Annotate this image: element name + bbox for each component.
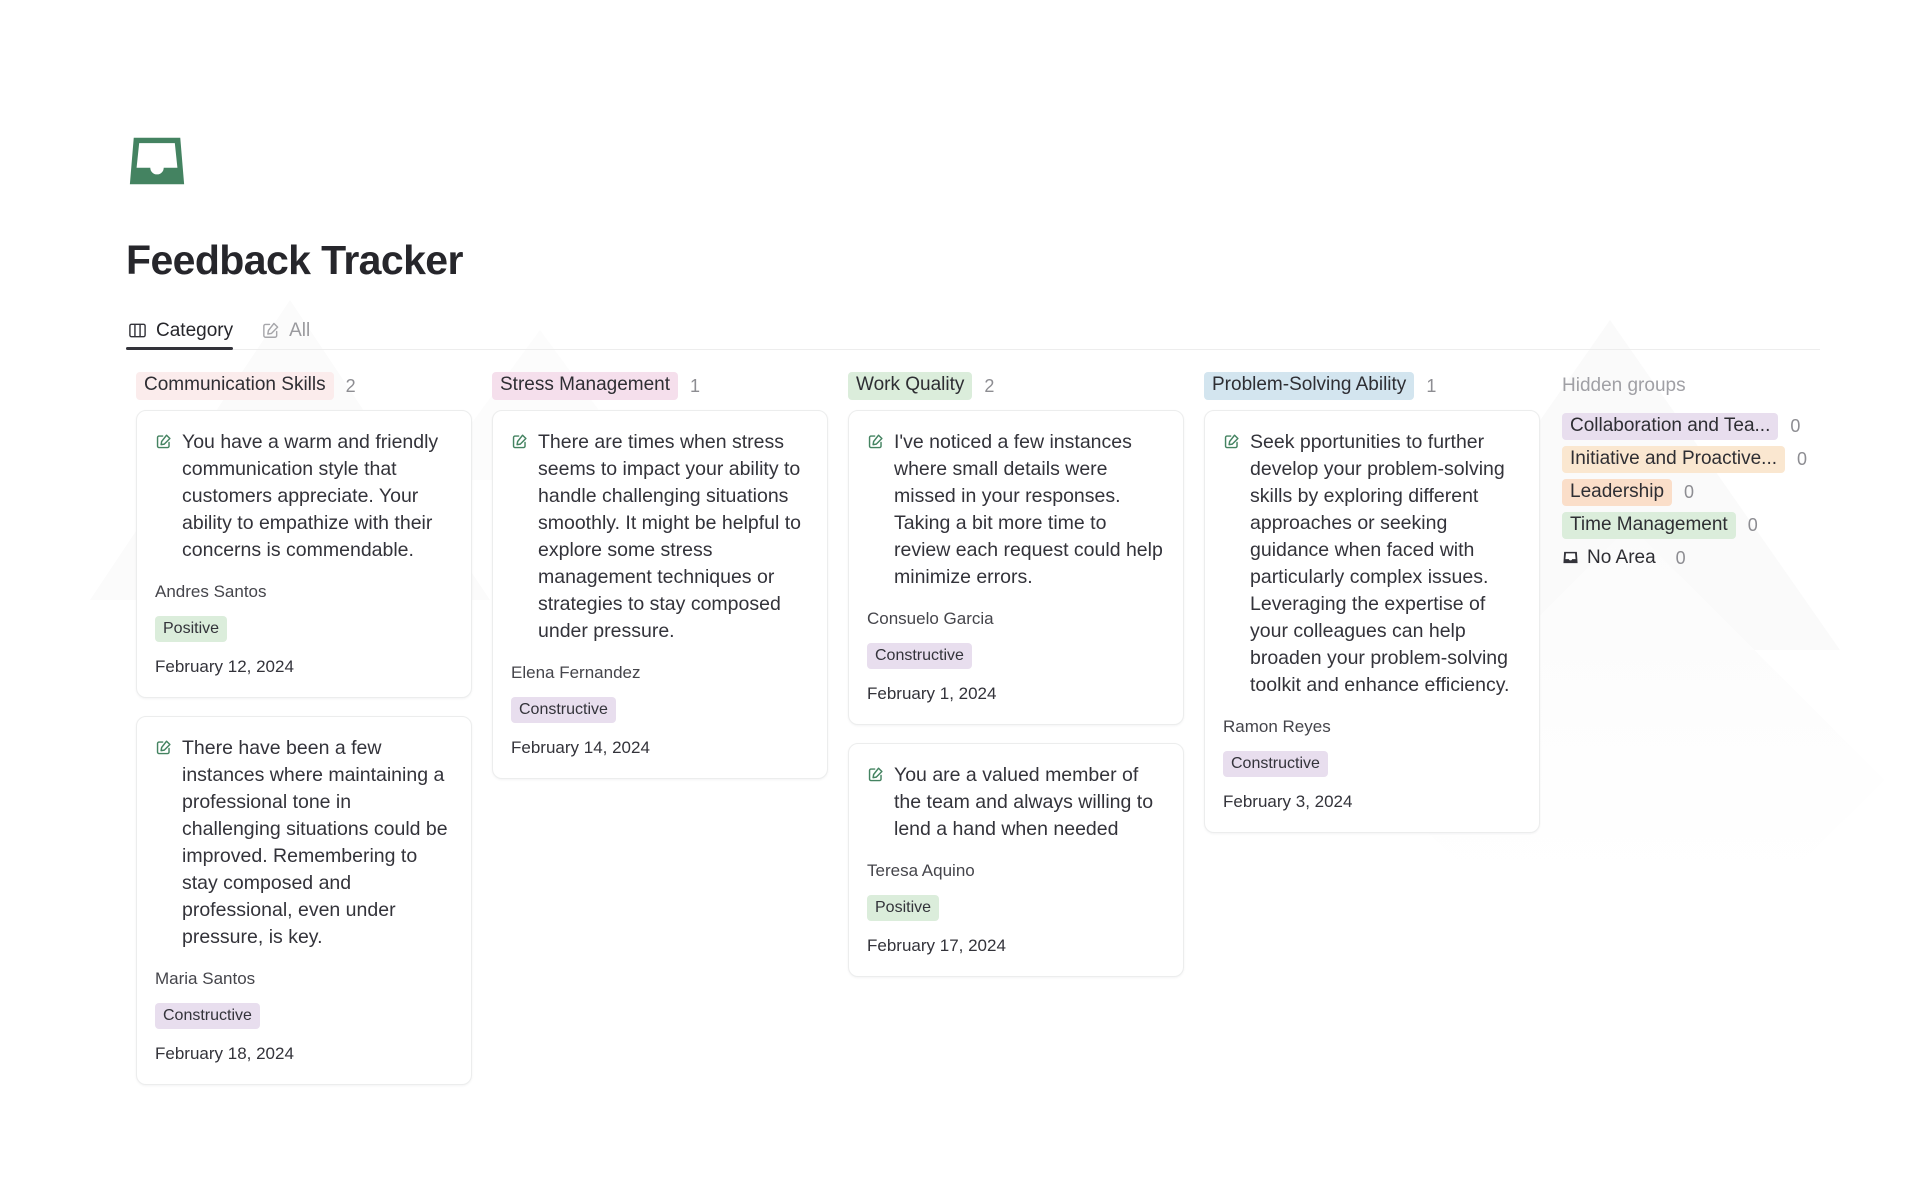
hidden-group-item[interactable]: Leadership 0 bbox=[1562, 476, 1807, 509]
card-tag: Constructive bbox=[1223, 751, 1328, 777]
hidden-group-count: 0 bbox=[1748, 515, 1758, 536]
hidden-group-chip: Leadership bbox=[1562, 479, 1672, 507]
card-date: February 1, 2024 bbox=[867, 684, 1163, 704]
card-author: Andres Santos bbox=[155, 582, 451, 602]
card-body: I've noticed a few instances where small… bbox=[867, 429, 1163, 591]
tab-category-label: Category bbox=[156, 321, 233, 340]
edit-note-icon bbox=[155, 739, 172, 756]
edit-note-icon bbox=[155, 433, 172, 450]
edit-note-icon bbox=[261, 321, 280, 340]
hidden-group-count: 0 bbox=[1676, 548, 1686, 569]
hidden-group-chip: Collaboration and Tea... bbox=[1562, 413, 1778, 441]
feedback-card[interactable]: I've noticed a few instances where small… bbox=[848, 410, 1184, 725]
card-author: Ramon Reyes bbox=[1223, 717, 1519, 737]
card-text: There have been a few instances where ma… bbox=[182, 735, 451, 951]
card-author: Teresa Aquino bbox=[867, 861, 1163, 881]
hidden-group-count: 0 bbox=[1797, 449, 1807, 470]
card-body: Seek pportunities to further develop you… bbox=[1223, 429, 1519, 699]
column-count: 2 bbox=[346, 376, 356, 397]
card-text: You are a valued member of the team and … bbox=[894, 762, 1163, 843]
hidden-groups-title: Hidden groups bbox=[1562, 372, 1807, 400]
hidden-group-label-no-area: No Area bbox=[1587, 547, 1656, 570]
inbox-tray-icon bbox=[126, 130, 188, 192]
card-date: February 14, 2024 bbox=[511, 738, 807, 758]
tab-all-label: All bbox=[289, 321, 310, 340]
card-body: You have a warm and friendly communicati… bbox=[155, 429, 451, 564]
hidden-groups-panel: Hidden groups Collaboration and Tea... 0… bbox=[1550, 372, 1807, 575]
hidden-group-chip-no-area: No Area bbox=[1562, 545, 1664, 573]
card-tag: Constructive bbox=[511, 697, 616, 723]
page-root: Feedback Tracker Category All bbox=[0, 0, 1920, 1103]
card-body: There have been a few instances where ma… bbox=[155, 735, 451, 951]
hidden-group-item[interactable]: Collaboration and Tea... 0 bbox=[1562, 410, 1807, 443]
card-date: February 3, 2024 bbox=[1223, 792, 1519, 812]
inbox-tray-icon bbox=[1562, 549, 1579, 566]
tab-category[interactable]: Category bbox=[126, 312, 245, 349]
card-tag: Positive bbox=[867, 895, 939, 921]
feedback-card[interactable]: Seek pportunities to further develop you… bbox=[1204, 410, 1540, 833]
hidden-group-item-no-area[interactable]: No Area 0 bbox=[1562, 542, 1807, 575]
column-title-chip: Communication Skills bbox=[136, 372, 334, 400]
card-date: February 18, 2024 bbox=[155, 1044, 451, 1064]
column-count: 2 bbox=[984, 376, 994, 397]
column-count: 1 bbox=[1426, 376, 1436, 397]
feedback-card[interactable]: There have been a few instances where ma… bbox=[136, 716, 472, 1085]
column-header[interactable]: Stress Management 1 bbox=[482, 372, 838, 400]
edit-note-icon bbox=[867, 433, 884, 450]
page-header: Feedback Tracker bbox=[0, 0, 1920, 281]
edit-note-icon bbox=[867, 766, 884, 783]
board-column-stress-management: Stress Management 1 There are times when… bbox=[482, 372, 838, 797]
hidden-group-item[interactable]: Initiative and Proactive... 0 bbox=[1562, 443, 1807, 476]
card-author: Consuelo Garcia bbox=[867, 609, 1163, 629]
kanban-board: Communication Skills 2 You have a warm a… bbox=[126, 372, 1920, 1103]
hidden-group-chip: Time Management bbox=[1562, 512, 1736, 540]
card-body: There are times when stress seems to imp… bbox=[511, 429, 807, 645]
view-tabs: Category All bbox=[126, 311, 1820, 350]
feedback-card[interactable]: You have a warm and friendly communicati… bbox=[136, 410, 472, 698]
card-text: There are times when stress seems to imp… bbox=[538, 429, 807, 645]
column-header[interactable]: Work Quality 2 bbox=[838, 372, 1194, 400]
tab-all[interactable]: All bbox=[259, 312, 322, 349]
column-header[interactable]: Problem-Solving Ability 1 bbox=[1194, 372, 1550, 400]
feedback-card[interactable]: You are a valued member of the team and … bbox=[848, 743, 1184, 977]
feedback-card[interactable]: There are times when stress seems to imp… bbox=[492, 410, 828, 779]
card-text: I've noticed a few instances where small… bbox=[894, 429, 1163, 591]
card-author: Elena Fernandez bbox=[511, 663, 807, 683]
card-date: February 12, 2024 bbox=[155, 657, 451, 677]
board-column-problem-solving-ability: Problem-Solving Ability 1 Seek pportunit… bbox=[1194, 372, 1550, 851]
page-title: Feedback Tracker bbox=[126, 240, 1920, 281]
column-count: 1 bbox=[690, 376, 700, 397]
column-title-chip: Stress Management bbox=[492, 372, 678, 400]
card-text: You have a warm and friendly communicati… bbox=[182, 429, 451, 564]
hidden-group-item[interactable]: Time Management 0 bbox=[1562, 509, 1807, 542]
card-body: You are a valued member of the team and … bbox=[867, 762, 1163, 843]
card-tag: Positive bbox=[155, 616, 227, 642]
hidden-group-count: 0 bbox=[1790, 416, 1800, 437]
card-tag: Constructive bbox=[867, 643, 972, 669]
hidden-group-count: 0 bbox=[1684, 482, 1694, 503]
card-tag: Constructive bbox=[155, 1003, 260, 1029]
card-date: February 17, 2024 bbox=[867, 936, 1163, 956]
column-title-chip: Problem-Solving Ability bbox=[1204, 372, 1414, 400]
board-columns-icon bbox=[128, 321, 147, 340]
card-author: Maria Santos bbox=[155, 969, 451, 989]
edit-note-icon bbox=[511, 433, 528, 450]
card-text: Seek pportunities to further develop you… bbox=[1250, 429, 1519, 699]
board-column-communication-skills: Communication Skills 2 You have a warm a… bbox=[126, 372, 482, 1103]
edit-note-icon bbox=[1223, 433, 1240, 450]
column-title-chip: Work Quality bbox=[848, 372, 972, 400]
column-header[interactable]: Communication Skills 2 bbox=[126, 372, 482, 400]
board-column-work-quality: Work Quality 2 I've noticed a few instan… bbox=[838, 372, 1194, 995]
hidden-group-chip: Initiative and Proactive... bbox=[1562, 446, 1785, 474]
